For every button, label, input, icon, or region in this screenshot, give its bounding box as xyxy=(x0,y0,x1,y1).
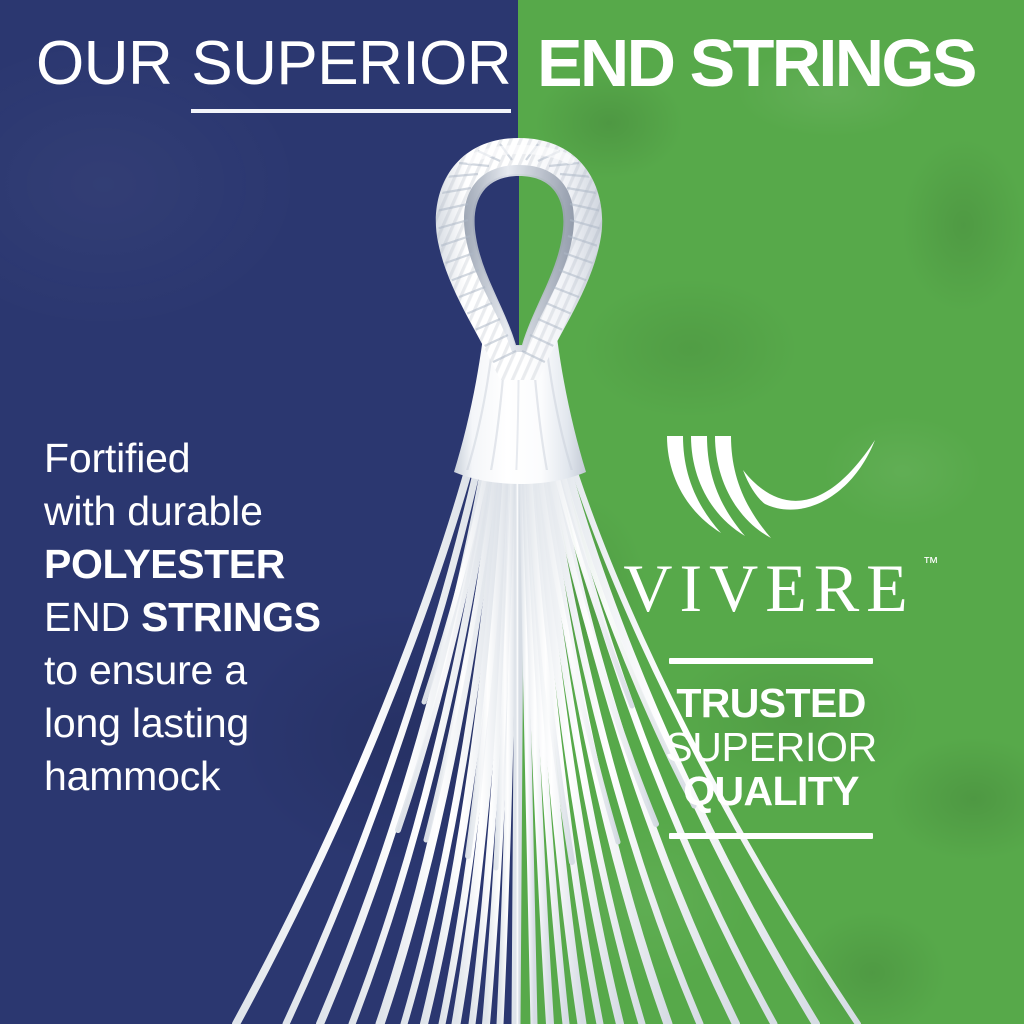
vivere-wordmark-text: VIVERE xyxy=(623,550,914,626)
body-line-1: Fortified xyxy=(44,432,321,485)
marketing-graphic: OURSUPERIOR END STRINGS Fortified with d… xyxy=(0,0,1024,1024)
body-line-4-end: END xyxy=(44,594,130,640)
trademark-symbol: ™ xyxy=(923,556,939,572)
body-line-4: END STRINGS xyxy=(44,591,321,644)
claim-line-quality: QUALITY xyxy=(665,769,877,813)
body-line-4-strings: STRINGS xyxy=(141,594,320,640)
headline-word-our: OUR xyxy=(36,29,172,98)
vivere-wordmark: VIVERE ™ xyxy=(623,554,918,622)
quality-claim: TRUSTED SUPERIOR QUALITY xyxy=(665,681,877,813)
headline-light-part: OURSUPERIOR xyxy=(0,28,511,99)
brand-lockup: VIVERE ™ TRUSTED SUPERIOR QUALITY xyxy=(518,430,1024,839)
body-copy: Fortified with durable POLYESTER END STR… xyxy=(44,432,321,803)
claim-line-superior: SUPERIOR xyxy=(665,725,877,769)
body-line-2: with durable xyxy=(44,485,321,538)
divider-rule-bottom xyxy=(669,833,873,839)
body-line-6: long lasting xyxy=(44,697,321,750)
headline: OURSUPERIOR END STRINGS xyxy=(0,26,1024,100)
body-line-7: hammock xyxy=(44,750,321,803)
vivere-swoosh-icon xyxy=(653,430,889,542)
headline-word-superior: SUPERIOR xyxy=(191,29,511,113)
headline-bold-part: END STRINGS xyxy=(537,25,975,102)
divider-rule-top xyxy=(669,658,873,664)
claim-line-trusted: TRUSTED xyxy=(665,681,877,725)
body-line-3-polyester: POLYESTER xyxy=(44,538,321,591)
body-line-5: to ensure a xyxy=(44,644,321,697)
